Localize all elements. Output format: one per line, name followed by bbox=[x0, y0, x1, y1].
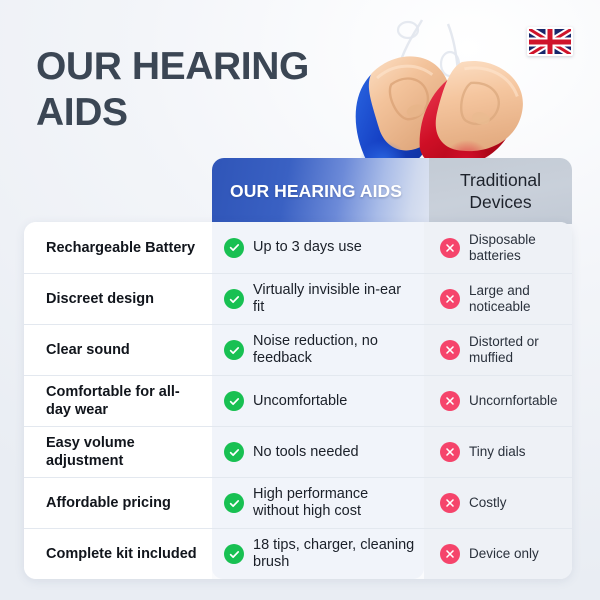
traditional-value: Disposable batteries bbox=[469, 232, 564, 264]
feature-label: Discreet design bbox=[24, 274, 212, 324]
ours-cell: Virtually invisible in-ear fit bbox=[212, 274, 424, 324]
traditional-cell: Distorted or muffied bbox=[424, 325, 572, 375]
table-row: Rechargeable BatteryUp to 3 days useDisp… bbox=[24, 222, 572, 273]
traditional-cell: Disposable batteries bbox=[424, 222, 572, 273]
check-circle-icon bbox=[224, 340, 244, 360]
ours-cell: Noise reduction, no feedback bbox=[212, 325, 424, 375]
cross-circle-icon bbox=[440, 493, 460, 513]
ours-cell: No tools needed bbox=[212, 427, 424, 477]
page-title: OUR HEARING AIDS bbox=[36, 44, 336, 136]
feature-label: Clear sound bbox=[24, 325, 212, 375]
traditional-value: Tiny dials bbox=[469, 444, 526, 460]
check-circle-icon bbox=[224, 238, 244, 258]
feature-label: Rechargeable Battery bbox=[24, 222, 212, 273]
column-header-traditional: Traditional Devices bbox=[429, 158, 572, 224]
feature-label: Complete kit included bbox=[24, 529, 212, 579]
check-circle-icon bbox=[224, 391, 244, 411]
cross-circle-icon bbox=[440, 340, 460, 360]
traditional-cell: Tiny dials bbox=[424, 427, 572, 477]
ours-cell: 18 tips, charger, cleaning brush bbox=[212, 529, 424, 579]
ours-value: 18 tips, charger, cleaning brush bbox=[253, 537, 416, 571]
table-row: Affordable pricingHigh performance witho… bbox=[24, 477, 572, 528]
cross-circle-icon bbox=[440, 238, 460, 258]
feature-label: Easy volume adjustment bbox=[24, 427, 212, 477]
table-row: Easy volume adjustmentNo tools neededTin… bbox=[24, 426, 572, 477]
comparison-infographic: OUR HEARING AIDS bbox=[0, 0, 600, 600]
cross-circle-icon bbox=[440, 289, 460, 309]
table-row: Comfortable for all-day wearUncomfortabl… bbox=[24, 375, 572, 426]
ours-value: Up to 3 days use bbox=[253, 239, 362, 256]
ours-cell: Uncomfortable bbox=[212, 376, 424, 426]
ours-value: Uncomfortable bbox=[253, 393, 347, 410]
ours-cell: High performance without high cost bbox=[212, 478, 424, 528]
check-circle-icon bbox=[224, 442, 244, 462]
column-header-traditional-label: Traditional Devices bbox=[429, 169, 572, 213]
table-row: Discreet designVirtually invisible in-ea… bbox=[24, 273, 572, 324]
check-circle-icon bbox=[224, 289, 244, 309]
traditional-value: Distorted or muffied bbox=[469, 334, 564, 366]
ours-value: Virtually invisible in-ear fit bbox=[253, 282, 416, 316]
traditional-value: Large and noticeable bbox=[469, 283, 564, 315]
traditional-cell: Uncornfortable bbox=[424, 376, 572, 426]
table-row: Clear soundNoise reduction, no feedbackD… bbox=[24, 324, 572, 375]
traditional-value: Uncornfortable bbox=[469, 393, 558, 409]
comparison-header: OUR HEARING AIDS Traditional Devices bbox=[212, 158, 572, 224]
check-circle-icon bbox=[224, 493, 244, 513]
table-row: Complete kit included18 tips, charger, c… bbox=[24, 528, 572, 579]
column-header-ours-label: OUR HEARING AIDS bbox=[212, 181, 402, 202]
ours-value: No tools needed bbox=[253, 444, 359, 461]
cross-circle-icon bbox=[440, 391, 460, 411]
traditional-cell: Large and noticeable bbox=[424, 274, 572, 324]
cross-circle-icon bbox=[440, 544, 460, 564]
traditional-cell: Costly bbox=[424, 478, 572, 528]
traditional-cell: Device only bbox=[424, 529, 572, 579]
ours-value: High performance without high cost bbox=[253, 486, 416, 520]
ours-value: Noise reduction, no feedback bbox=[253, 333, 416, 367]
traditional-value: Device only bbox=[469, 546, 539, 562]
cross-circle-icon bbox=[440, 442, 460, 462]
column-header-ours: OUR HEARING AIDS bbox=[212, 158, 431, 224]
feature-label: Comfortable for all-day wear bbox=[24, 376, 212, 426]
traditional-value: Costly bbox=[469, 495, 507, 511]
ours-cell: Up to 3 days use bbox=[212, 222, 424, 273]
feature-label: Affordable pricing bbox=[24, 478, 212, 528]
comparison-table: Rechargeable BatteryUp to 3 days useDisp… bbox=[24, 222, 572, 579]
check-circle-icon bbox=[224, 544, 244, 564]
